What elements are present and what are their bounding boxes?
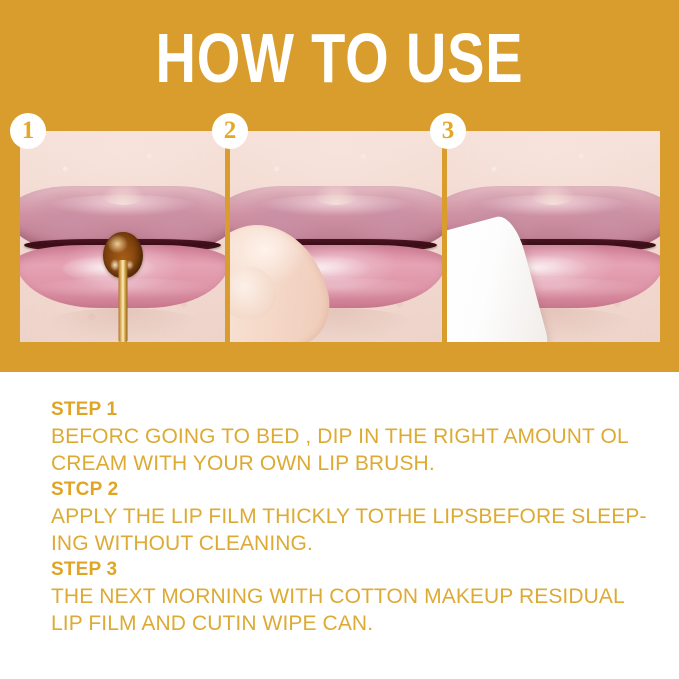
step-item-3: STEP 3 THE NEXT MORNING WITH COTTON MAKE… <box>51 557 651 637</box>
step-badge-2: 2 <box>212 113 248 149</box>
lip-applicator-wand-icon <box>103 232 143 342</box>
step-2-heading: STCP 2 <box>51 477 651 503</box>
step-1-body: BEFORC GOING TO BED , DIP IN THE RIGHT A… <box>51 423 651 477</box>
step-item-1: STEP 1 BEFORC GOING TO BED , DIP IN THE … <box>51 397 651 477</box>
steps-list: STEP 1 BEFORC GOING TO BED , DIP IN THE … <box>51 397 651 637</box>
step-item-2: STCP 2 APPLY THE LIP FILM THICKLY TOTHE … <box>51 477 651 557</box>
step-3-heading: STEP 3 <box>51 557 651 583</box>
step-badge-1: 1 <box>10 113 46 149</box>
photo-strip <box>20 131 660 342</box>
photo-panel-step-3 <box>447 131 660 342</box>
step-badge-3: 3 <box>430 113 466 149</box>
fingernail <box>230 263 279 324</box>
step-1-heading: STEP 1 <box>51 397 651 423</box>
photo-panel-step-1 <box>20 131 225 342</box>
how-to-use-infographic: HOW TO USE <box>0 0 679 679</box>
step-3-body: THE NEXT MORNING WITH COTTON MAKEUP RESI… <box>51 583 651 637</box>
page-title: HOW TO USE <box>68 22 611 94</box>
photo-panel-step-2 <box>230 131 441 342</box>
step-2-body: APPLY THE LIP FILM THICKLY TOTHE LIPSBEF… <box>51 503 651 557</box>
applicator-handle <box>118 260 127 342</box>
